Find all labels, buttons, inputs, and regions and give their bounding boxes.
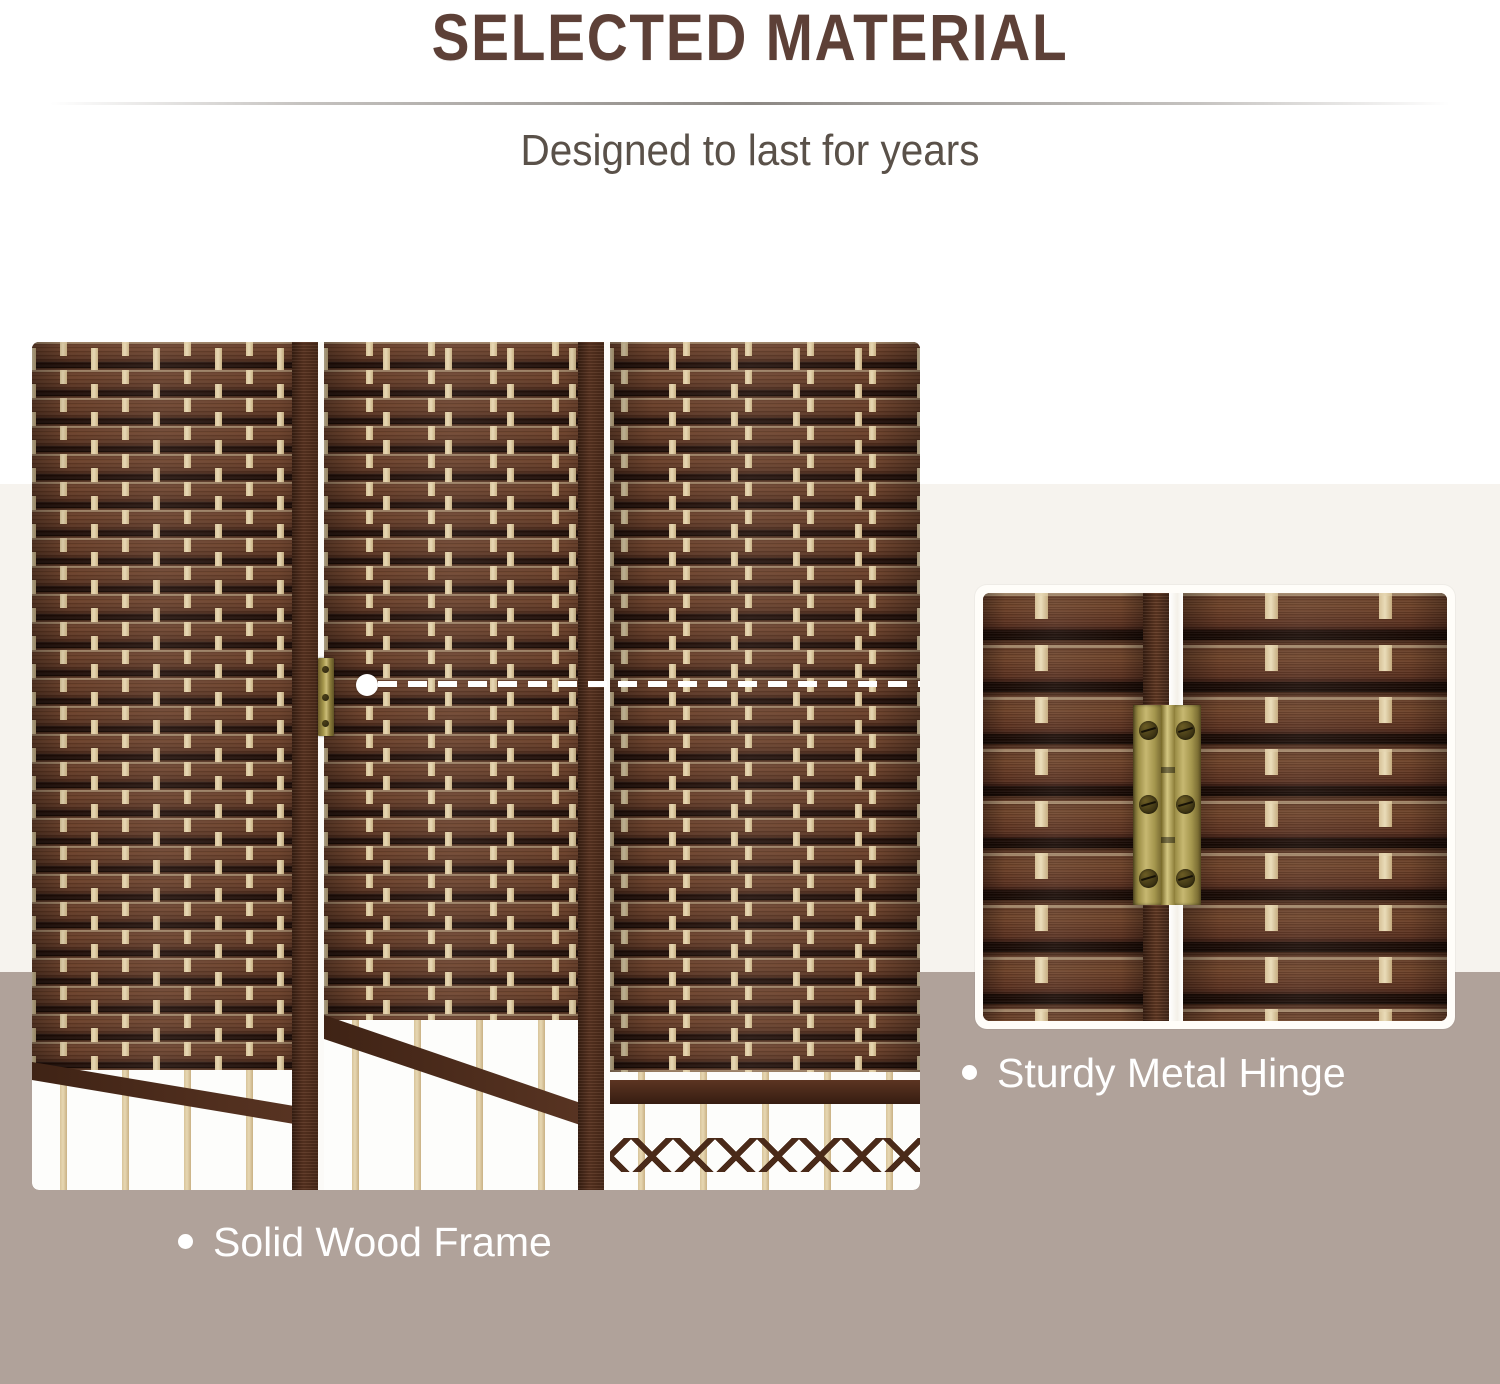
weave-texture [983, 593, 1143, 1021]
weave-shading [1183, 593, 1447, 1021]
divider-panel-left [32, 342, 318, 1190]
divider-panel-right [610, 342, 920, 1190]
bullet-icon [962, 1065, 977, 1080]
weave-texture [1183, 593, 1447, 1021]
weave-texture [610, 342, 920, 1190]
header-divider-rule [50, 102, 1450, 105]
header: SELECTED MATERIAL [0, 0, 1500, 70]
hinge-icon [318, 658, 334, 736]
callout-origin-dot [356, 674, 378, 696]
product-photo-main [32, 342, 920, 1190]
bullet-icon [178, 1234, 193, 1249]
hinge-screw [1139, 795, 1158, 814]
wood-frame-stile-2 [578, 342, 604, 1190]
hinge-screw [1176, 795, 1195, 814]
inset-panel-right [1183, 593, 1447, 1021]
inset-panel-left [983, 593, 1143, 1021]
hinge-detail-image [983, 593, 1447, 1021]
weave-shading [983, 593, 1143, 1021]
metal-hinge-icon [1133, 705, 1201, 905]
weave-shading [610, 342, 920, 1190]
page-title: SELECTED MATERIAL [105, 0, 1395, 70]
weave-texture [32, 342, 318, 1190]
callout-label-solid-wood-frame: Solid Wood Frame [178, 1219, 552, 1266]
hinge-knuckle [1161, 705, 1175, 905]
weave-shading [32, 342, 318, 1190]
divider-panel-middle [324, 342, 604, 1190]
panel-bottom-cross-weave [610, 1138, 920, 1172]
page-subtitle: Designed to last for years [60, 126, 1440, 176]
hinge-screw [1176, 721, 1195, 740]
hinge-screw [1139, 869, 1158, 888]
wood-frame-stile-1 [292, 342, 318, 1190]
panel-bottom-rail [610, 1080, 920, 1104]
hinge-screw [1176, 869, 1195, 888]
infographic-canvas: SELECTED MATERIAL Designed to last for y… [0, 0, 1500, 1384]
hinge-screw [1139, 721, 1158, 740]
callout-label-text: Solid Wood Frame [213, 1219, 552, 1265]
callout-leader-line [378, 681, 920, 687]
callout-label-sturdy-metal-hinge: Sturdy Metal Hinge [962, 1050, 1346, 1097]
callout-label-text: Sturdy Metal Hinge [997, 1050, 1346, 1096]
hinge-detail-inset [975, 585, 1455, 1029]
